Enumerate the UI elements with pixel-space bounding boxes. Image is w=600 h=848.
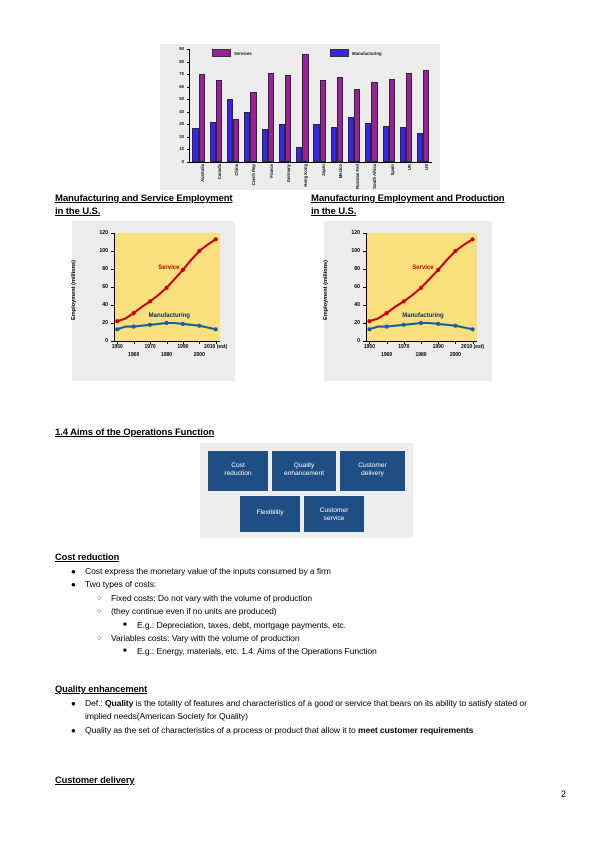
bar-chart-y-tick-label: 40: [179, 110, 184, 114]
section-heading-cost-reduction: Cost reduction: [55, 552, 119, 562]
line-chart-label-manufacturing: Manufacturing: [402, 313, 443, 319]
page-number: 2: [561, 789, 566, 799]
bar-chart-x-tick: US: [414, 163, 431, 189]
bar-group: [225, 49, 242, 162]
line-point-manufacturing: [164, 321, 168, 325]
line-point-manufacturing: [385, 325, 389, 329]
section-heading-customer-delivery: Customer delivery: [55, 775, 134, 785]
list-item-text: Quality as the set of characteristics of…: [85, 724, 531, 737]
bar-services-south-africa: [371, 82, 377, 162]
bar-chart-x-tick: Mexico: [327, 163, 344, 189]
line-chart-series-layer: [324, 221, 492, 381]
list-item: ○(they continue even if no units are pro…: [55, 605, 531, 618]
bar-services-russian-fed: [354, 89, 360, 162]
bar-chart-x-tick-label: Japan: [322, 164, 326, 176]
diagram-box-label-line: reduction: [224, 470, 251, 477]
bar-chart-x-tick: Canada: [206, 163, 223, 189]
list-item-text: E.g.: Energy, materials, etc. 1.4. Aims …: [137, 645, 531, 658]
line-point-service: [419, 286, 423, 290]
bar-group: [380, 49, 397, 162]
bar-chart-x-tick-label: Germany: [287, 164, 291, 182]
list-bullet-marker: ■: [123, 645, 137, 658]
right-chart-title: Manufacturing Employment and Production …: [311, 192, 561, 218]
bar-chart-x-tick: UK: [396, 163, 413, 189]
diagram-box-label-line: enhancement: [284, 470, 324, 477]
bar-group: [397, 49, 414, 162]
list-item: ●Def.: Quality is the totality of featur…: [55, 697, 531, 724]
list-item-text: Def.: Quality is the totality of feature…: [85, 697, 531, 724]
diagram-box-label-line: Customer: [358, 462, 387, 469]
document-page: 0102030405060708090 Services Manufacturi…: [0, 0, 600, 848]
bar-chart-x-tick-label: Czech Rep: [252, 164, 256, 185]
line-point-service: [367, 319, 371, 323]
list-bullet-marker: ●: [71, 724, 85, 737]
list-item: ●Two types of costs:: [55, 578, 531, 591]
bar-chart-y-tick: [187, 87, 190, 88]
bar-chart-x-tick: China: [224, 163, 241, 189]
left-chart-title: Manufacturing and Service Employment in …: [55, 192, 305, 218]
bar-chart-y-tick: [187, 99, 190, 100]
bullet-list: ●Def.: Quality is the totality of featur…: [55, 697, 531, 737]
bar-services-china: [233, 119, 239, 162]
line-point-service: [115, 319, 119, 323]
bar-chart-x-axis: AustraliaCanadaChinaCzech RepFranceGerma…: [189, 163, 431, 189]
line-point-service: [471, 237, 475, 241]
bar-group: [190, 49, 207, 162]
list-bullet-marker: ○: [97, 592, 111, 605]
list-item-text: Fixed costs: Do not vary with the volume…: [111, 592, 531, 605]
emphasis-text: meet customer requirements: [358, 725, 473, 735]
list-bullet-marker: ○: [97, 632, 111, 645]
line-point-manufacturing: [471, 327, 475, 331]
line-point-service: [197, 249, 201, 253]
list-bullet-marker: ●: [71, 565, 85, 578]
diagram-box-label-line: Flexibility: [256, 509, 283, 516]
bar-group: [363, 49, 380, 162]
line-point-service: [181, 268, 185, 272]
bar-chart-x-tick-label: Russian Fed: [356, 164, 360, 189]
bar-chart-x-tick-label: UK: [408, 164, 412, 170]
bar-chart-plot-area: [189, 49, 432, 163]
line-point-service: [436, 268, 440, 272]
list-item-text: E.g.: Depreciation, taxes, debt, mortgag…: [137, 619, 531, 632]
legend-label-manufacturing: Manufacturing: [352, 51, 382, 56]
bar-group: [311, 49, 328, 162]
bar-chart-legend: Services Manufacturing: [200, 48, 430, 58]
bar-services-us: [423, 70, 429, 162]
diagram-box-flexibility[interactable]: Flexibility: [240, 496, 300, 532]
bar-services-germany: [285, 75, 291, 162]
diagram-box-label-line: Cost: [231, 462, 245, 469]
legend-entry-manufacturing: Manufacturing: [330, 49, 382, 57]
bar-chart-x-tick: Spain: [379, 163, 396, 189]
list-bullet-marker: ●: [71, 697, 85, 710]
line-point-manufacturing: [181, 322, 185, 326]
bar-chart-y-tick: [187, 74, 190, 75]
bar-chart-y-tick-label: 80: [179, 59, 184, 63]
bar-chart-y-tick: [187, 62, 190, 63]
aims-diagram: Costreduction Qualityenhancement Custome…: [200, 443, 413, 538]
bar-chart-x-tick-label: France: [270, 164, 274, 178]
bar-chart-y-tick-label: 50: [179, 97, 184, 101]
bar-chart-y-tick: [187, 137, 190, 138]
right-line-chart-figure: Employment (millions)0204060801001201950…: [324, 221, 492, 381]
bar-services-spain: [389, 79, 395, 162]
line-point-manufacturing: [402, 323, 406, 327]
bar-chart-x-tick-label: Mexico: [339, 164, 343, 178]
line-point-service: [132, 311, 136, 315]
bar-chart-x-tick-label: Australia: [201, 164, 205, 182]
list-item-text: (they continue even if no units are prod…: [111, 605, 531, 618]
line-point-service: [453, 249, 457, 253]
list-bullet-marker: ○: [97, 605, 111, 618]
bar-services-canada: [216, 80, 222, 162]
bar-group: [259, 49, 276, 162]
line-point-manufacturing: [115, 327, 119, 331]
list-item: ○Fixed costs: Do not vary with the volum…: [55, 592, 531, 605]
bar-chart-y-tick: [187, 124, 190, 125]
diagram-box-customer-delivery[interactable]: Customerdelivery: [340, 451, 405, 491]
bar-services-france: [268, 73, 274, 162]
bar-group: [346, 49, 363, 162]
bar-services-mexico: [337, 77, 343, 162]
bar-chart-bars: [190, 49, 432, 162]
legend-swatch-services: [212, 49, 231, 57]
list-item: ■E.g.: Energy, materials, etc. 1.4. Aims…: [55, 645, 531, 658]
bar-services-czech-rep: [250, 92, 256, 162]
list-item: ○Variables costs: Vary with the volume o…: [55, 632, 531, 645]
bar-chart-y-tick-label: 90: [179, 47, 184, 51]
list-bullet-marker: ■: [123, 619, 137, 632]
list-item: ●Cost express the monetary value of the …: [55, 565, 531, 578]
bar-chart-x-tick: Australia: [189, 163, 206, 189]
line-point-service: [402, 299, 406, 303]
diagram-box-cost-reduction[interactable]: Costreduction: [208, 451, 268, 491]
bar-group: [207, 49, 224, 162]
bar-group: [415, 49, 432, 162]
bar-chart-x-tick: Czech Rep: [241, 163, 258, 189]
line-chart-label-service: Service: [412, 265, 433, 271]
bar-chart-y-tick-label: 0: [182, 160, 184, 164]
bar-group: [328, 49, 345, 162]
line-point-service: [385, 311, 389, 315]
line-point-service: [214, 237, 218, 241]
bar-chart-x-tick: Russian Fed: [345, 163, 362, 189]
aims-section-heading: 1.4 Aims of the Operations Function: [55, 427, 214, 438]
left-line-chart-figure: Employment (millions)0204060801001201950…: [72, 221, 235, 381]
diagram-box-label-line: delivery: [361, 470, 384, 477]
diagram-box-quality-enhancement[interactable]: Qualityenhancement: [272, 451, 336, 491]
line-chart-label-service: Service: [158, 265, 179, 271]
emphasis-text: Quality: [105, 698, 133, 708]
bar-chart-figure: 0102030405060708090 Services Manufacturi…: [160, 44, 440, 190]
bar-chart-x-tick: Germany: [275, 163, 292, 189]
bar-chart-y-tick-label: 10: [179, 147, 184, 151]
bar-chart-x-tick-label: Canada: [218, 164, 222, 179]
list-bullet-marker: ●: [71, 578, 85, 591]
bar-chart-x-tick: Japan: [310, 163, 327, 189]
legend-swatch-manufacturing: [330, 49, 349, 57]
list-item-text: Variables costs: Vary with the volume of…: [111, 632, 531, 645]
bar-group: [294, 49, 311, 162]
legend-label-services: Services: [234, 51, 252, 56]
legend-entry-services: Services: [212, 49, 252, 57]
bar-group: [242, 49, 259, 162]
bar-services-hong-kong: [302, 54, 308, 162]
line-point-manufacturing: [453, 324, 457, 328]
diagram-box-customer-service[interactable]: Customerservice: [304, 496, 364, 532]
list-item: ■E.g.: Depreciation, taxes, debt, mortga…: [55, 619, 531, 632]
line-chart-label-manufacturing: Manufacturing: [149, 313, 190, 319]
bar-chart-x-tick-label: Hong Kong: [304, 164, 308, 187]
line-point-manufacturing: [132, 325, 136, 329]
bar-services-australia: [199, 74, 205, 162]
bar-chart-x-tick: South Africa: [362, 163, 379, 189]
bar-chart-x-tick-label: US: [425, 164, 429, 170]
diagram-box-label-line: Quality: [294, 462, 315, 469]
bar-chart-x-tick: Hong Kong: [293, 163, 310, 189]
bar-services-japan: [320, 80, 326, 162]
line-point-manufacturing: [148, 323, 152, 327]
list-item: ●Quality as the set of characteristics o…: [55, 724, 531, 737]
bar-chart-x-tick-label: South Africa: [373, 164, 377, 189]
bar-chart-x-tick-label: China: [235, 164, 239, 176]
bar-chart-y-tick: [187, 162, 190, 163]
diagram-box-label-line: Customer: [320, 507, 349, 514]
line-point-manufacturing: [197, 324, 201, 328]
list-item-text: Two types of costs:: [85, 578, 531, 591]
bar-chart-y-tick: [187, 49, 190, 50]
bar-chart-y-tick: [187, 149, 190, 150]
bar-chart-y-tick-label: 70: [179, 72, 184, 76]
bar-chart-y-tick: [187, 112, 190, 113]
bar-chart-y-axis: 0102030405060708090: [160, 44, 187, 162]
line-point-service: [164, 286, 168, 290]
line-point-manufacturing: [436, 322, 440, 326]
section-heading-quality-enhancement: Quality enhancement: [55, 684, 147, 694]
bar-services-uk: [406, 73, 412, 162]
line-point-manufacturing: [367, 327, 371, 331]
bar-chart-x-tick: France: [258, 163, 275, 189]
line-chart-series-layer: [72, 221, 235, 381]
bullet-list: ●Cost express the monetary value of the …: [55, 565, 531, 659]
line-point-manufacturing: [419, 321, 423, 325]
bar-chart-x-tick-label: Spain: [391, 164, 395, 175]
line-point-service: [148, 299, 152, 303]
bar-chart-y-tick-label: 30: [179, 122, 184, 126]
diagram-box-label-line: service: [324, 515, 345, 522]
line-point-manufacturing: [214, 327, 218, 331]
bar-group: [276, 49, 293, 162]
bar-chart-y-tick-label: 20: [179, 135, 184, 139]
bar-chart-y-tick-label: 60: [179, 85, 184, 89]
list-item-text: Cost express the monetary value of the i…: [85, 565, 531, 578]
